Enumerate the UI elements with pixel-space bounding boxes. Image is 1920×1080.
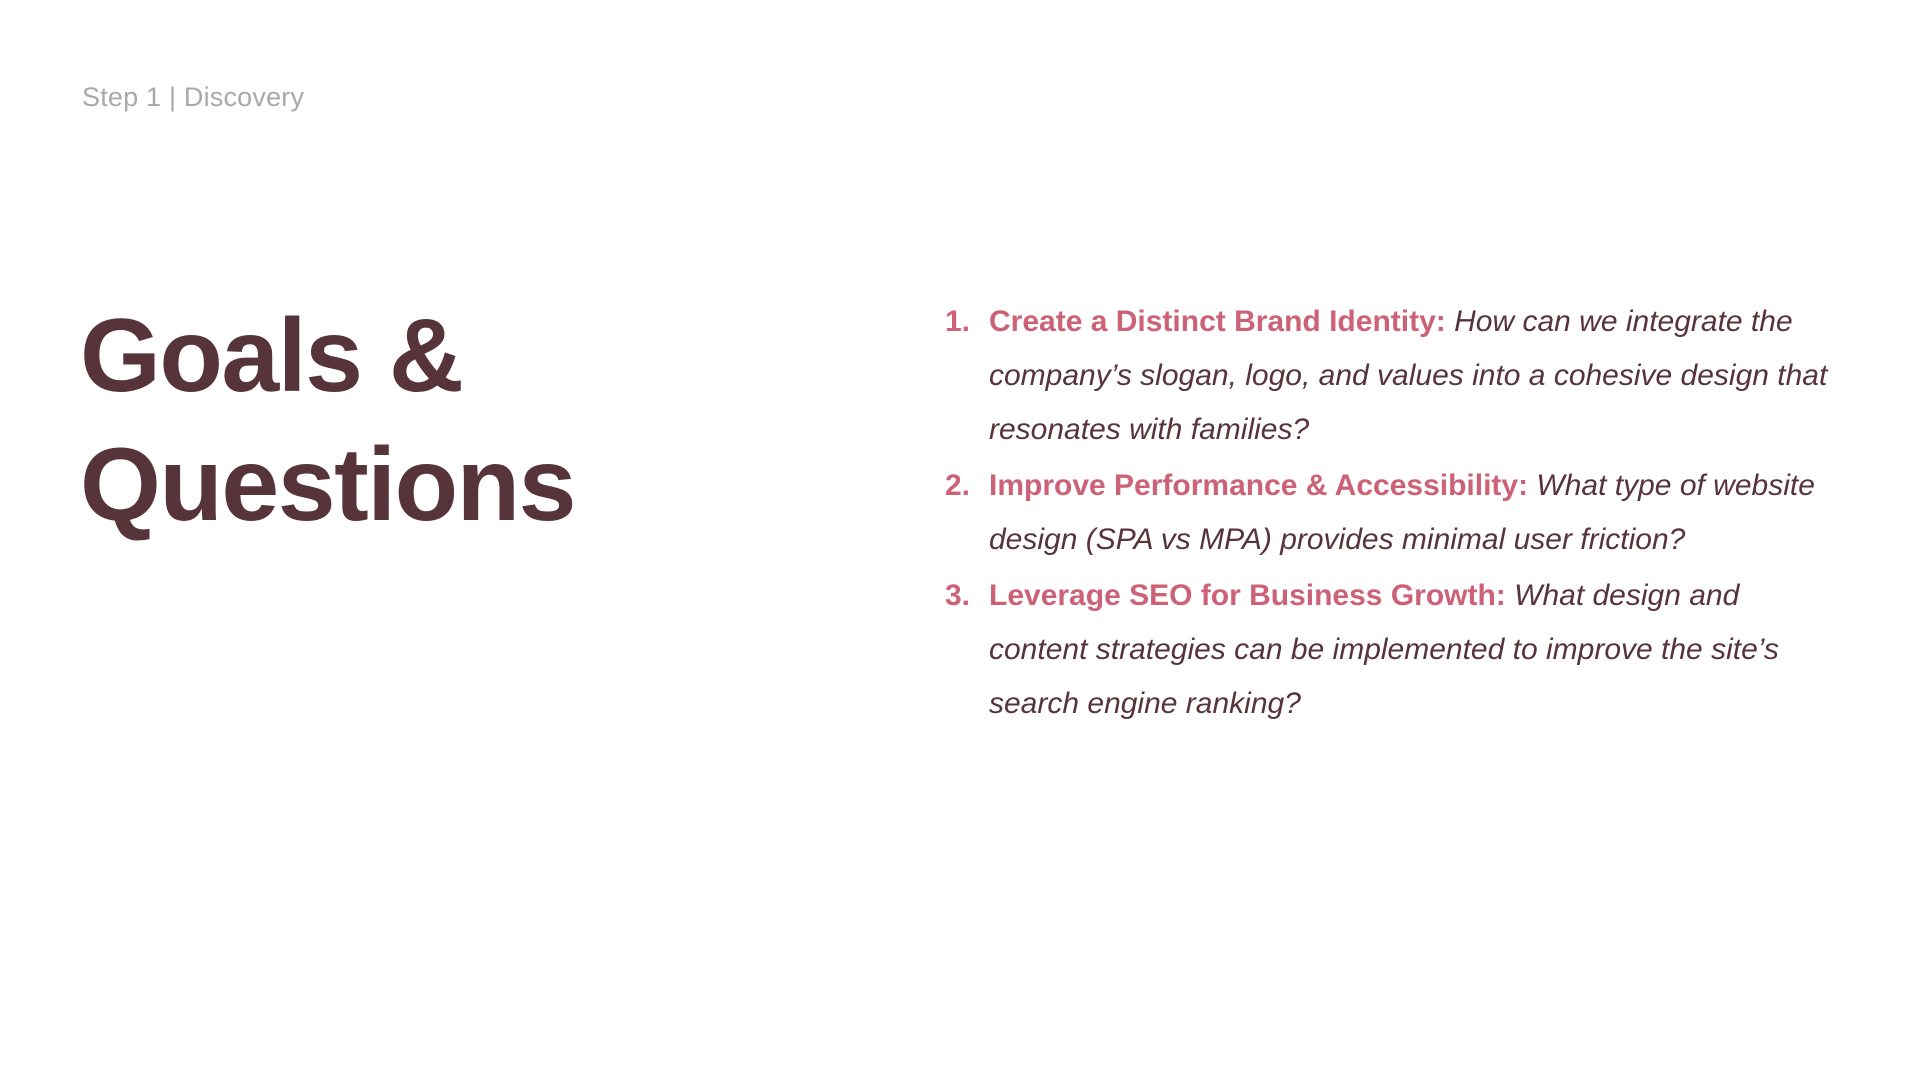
slide-root: Step 1 | Discovery Goals & Questions 1. … <box>0 0 1920 1080</box>
page-title: Goals & Questions <box>80 292 700 550</box>
list-item-heading: Create a Distinct Brand Identity: <box>989 305 1446 338</box>
list-item: 2. Improve Performance & Accessibility: … <box>945 459 1840 567</box>
list-item-number: 3. <box>945 569 989 623</box>
list-item-number: 2. <box>945 459 989 513</box>
list-item: 1. Create a Distinct Brand Identity: How… <box>945 295 1840 457</box>
list-item-body: Create a Distinct Brand Identity: How ca… <box>989 295 1840 457</box>
list-item-heading: Improve Performance & Accessibility: <box>989 469 1528 502</box>
list-item-number: 1. <box>945 295 989 349</box>
page-title-line-2: Questions <box>80 421 700 550</box>
list-item: 3. Leverage SEO for Business Growth: Wha… <box>945 569 1840 731</box>
goals-questions-list: 1. Create a Distinct Brand Identity: How… <box>945 295 1840 733</box>
list-item-body: Leverage SEO for Business Growth: What d… <box>989 569 1840 731</box>
page-title-line-1: Goals & <box>80 292 700 421</box>
step-eyebrow-label: Step 1 | Discovery <box>82 82 304 113</box>
list-item-heading: Leverage SEO for Business Growth: <box>989 579 1506 612</box>
list-item-body: Improve Performance & Accessibility: Wha… <box>989 459 1840 567</box>
